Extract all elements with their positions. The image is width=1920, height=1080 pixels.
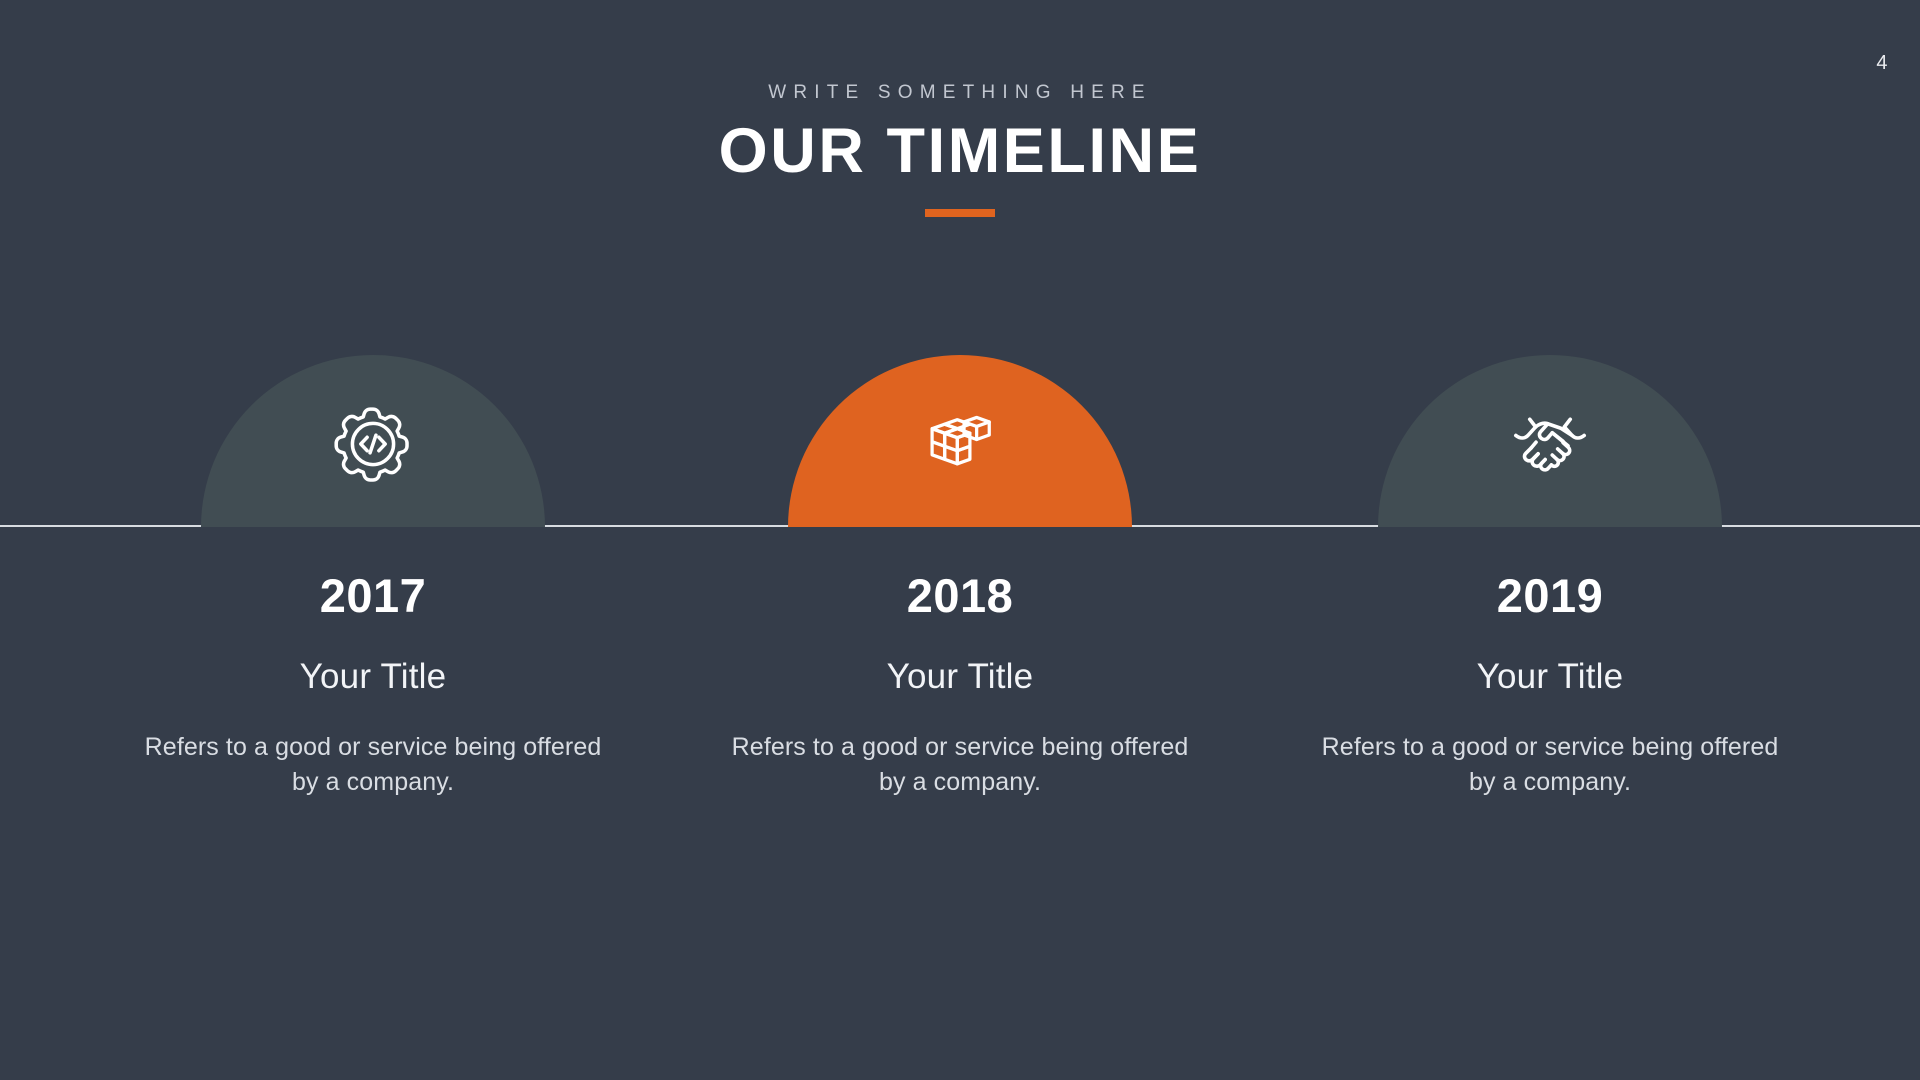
slide-our-timeline: 4 WRITE SOMETHING HERE OUR TIMELINE 2017 <box>0 0 1920 1080</box>
blocks-cubes-icon <box>914 398 1006 490</box>
timeline-subtitle: Your Title <box>133 657 613 697</box>
timeline-subtitle: Your Title <box>1310 657 1790 697</box>
timeline-columns: 2017 Your Title Refers to a good or serv… <box>0 0 1920 1080</box>
timeline-year: 2017 <box>133 568 613 623</box>
gear-code-icon <box>327 398 419 490</box>
timeline-item[interactable]: 2017 Your Title Refers to a good or serv… <box>133 0 613 1080</box>
timeline-year: 2018 <box>720 568 1200 623</box>
timeline-body: Refers to a good or service being offere… <box>720 730 1200 801</box>
timeline-body: Refers to a good or service being offere… <box>133 730 613 801</box>
timeline-item[interactable]: 2019 Your Title Refers to a good or serv… <box>1310 0 1790 1080</box>
handshake-icon <box>1504 398 1596 490</box>
timeline-year: 2019 <box>1310 568 1790 623</box>
timeline-item[interactable]: 2018 Your Title Refers to a good or serv… <box>720 0 1200 1080</box>
timeline-body: Refers to a good or service being offere… <box>1310 730 1790 801</box>
timeline-subtitle: Your Title <box>720 657 1200 697</box>
